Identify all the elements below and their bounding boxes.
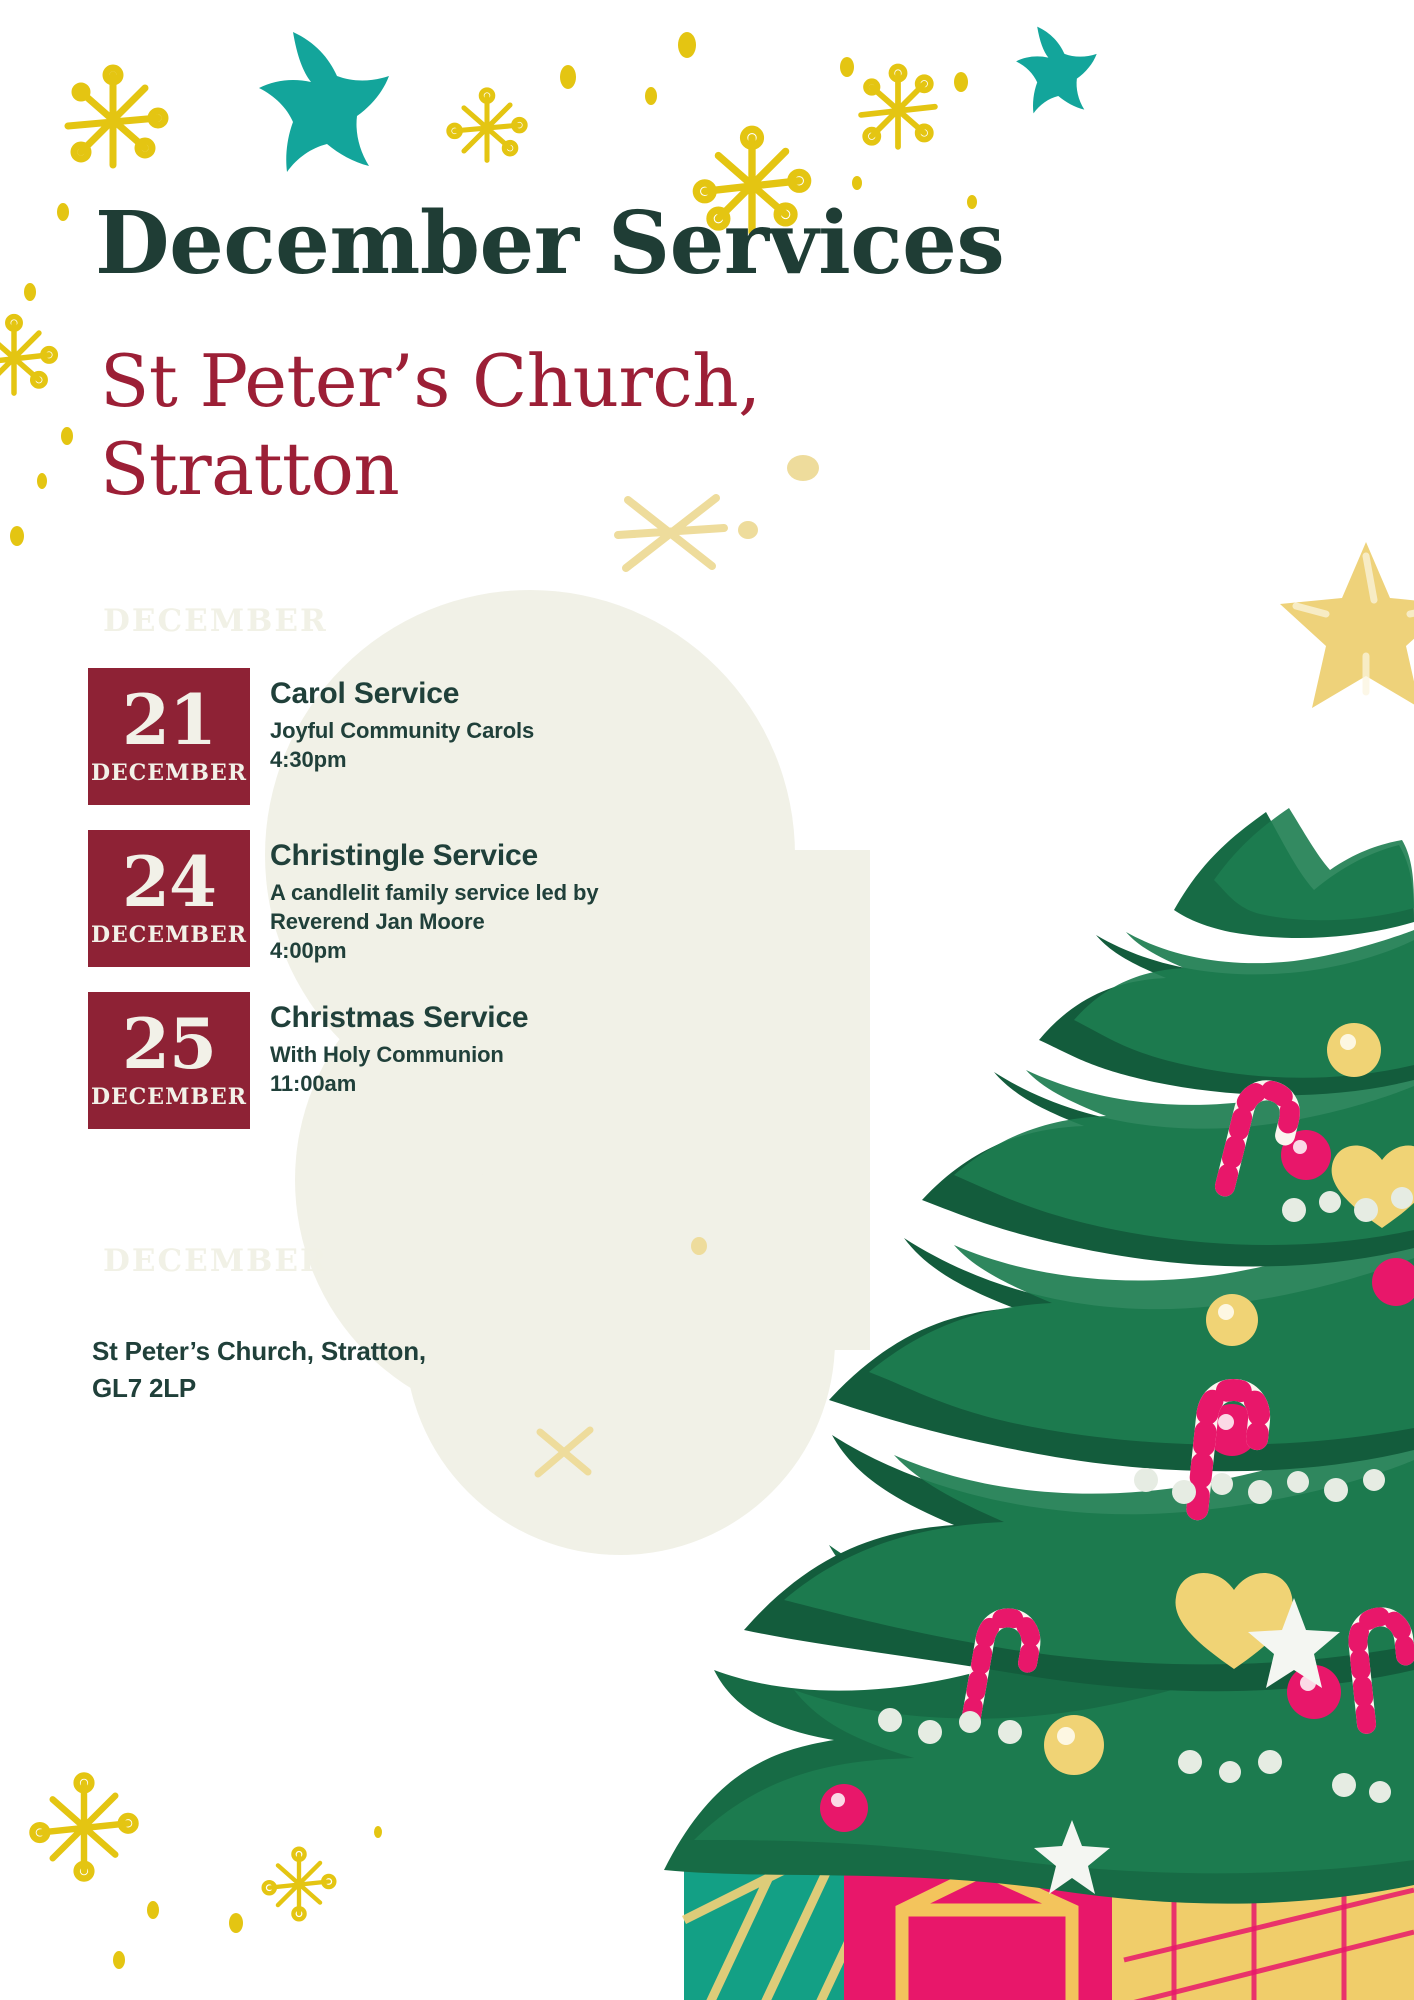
date-day: 21 [122,689,216,753]
watermark-december-top: DECEMBER [103,603,328,639]
date-month: DECEMBER [91,922,247,948]
event-body: Carol Service Joyful Community Carols 4:… [250,668,534,774]
service-event-24[interactable]: 24 DECEMBER Christingle Service A candle… [88,830,708,967]
poster: December Services St Peter’s Church, Str… [0,0,1414,2000]
service-schedule: 21 DECEMBER Carol Service Joyful Communi… [88,668,708,1154]
date-month: DECEMBER [91,1084,247,1110]
date-badge: 21 DECEMBER [88,668,250,805]
event-description: Joyful Community Carols [270,716,534,745]
event-title: Carol Service [270,677,534,712]
event-description: A candlelit family service led by Revere… [270,878,600,937]
event-body: Christmas Service With Holy Communion 11… [250,992,528,1098]
watermark-december-bottom: DECEMBER [103,1243,328,1279]
date-badge: 24 DECEMBER [88,830,250,967]
date-badge: 25 DECEMBER [88,992,250,1129]
event-title: Christmas Service [270,1001,528,1036]
date-day: 25 [122,1013,216,1077]
service-event-25[interactable]: 25 DECEMBER Christmas Service With Holy … [88,992,708,1129]
date-month: DECEMBER [91,760,247,786]
page-subtitle: St Peter’s Church, Stratton [100,338,820,514]
content-layer: December Services St Peter’s Church, Str… [0,0,1414,2000]
event-title: Christingle Service [270,839,600,874]
address-line-1: St Peter’s Church, Stratton, [92,1333,512,1370]
footer-address: St Peter’s Church, Stratton, GL7 2LP [92,1333,512,1407]
event-description: With Holy Communion [270,1040,528,1069]
service-event-21[interactable]: 21 DECEMBER Carol Service Joyful Communi… [88,668,708,805]
date-day: 24 [122,851,216,915]
page-title: December Services [95,200,1105,288]
address-line-2: GL7 2LP [92,1370,512,1407]
event-time: 11:00am [270,1069,528,1098]
event-time: 4:30pm [270,745,534,774]
event-time: 4:00pm [270,936,600,965]
event-body: Christingle Service A candlelit family s… [250,830,600,966]
